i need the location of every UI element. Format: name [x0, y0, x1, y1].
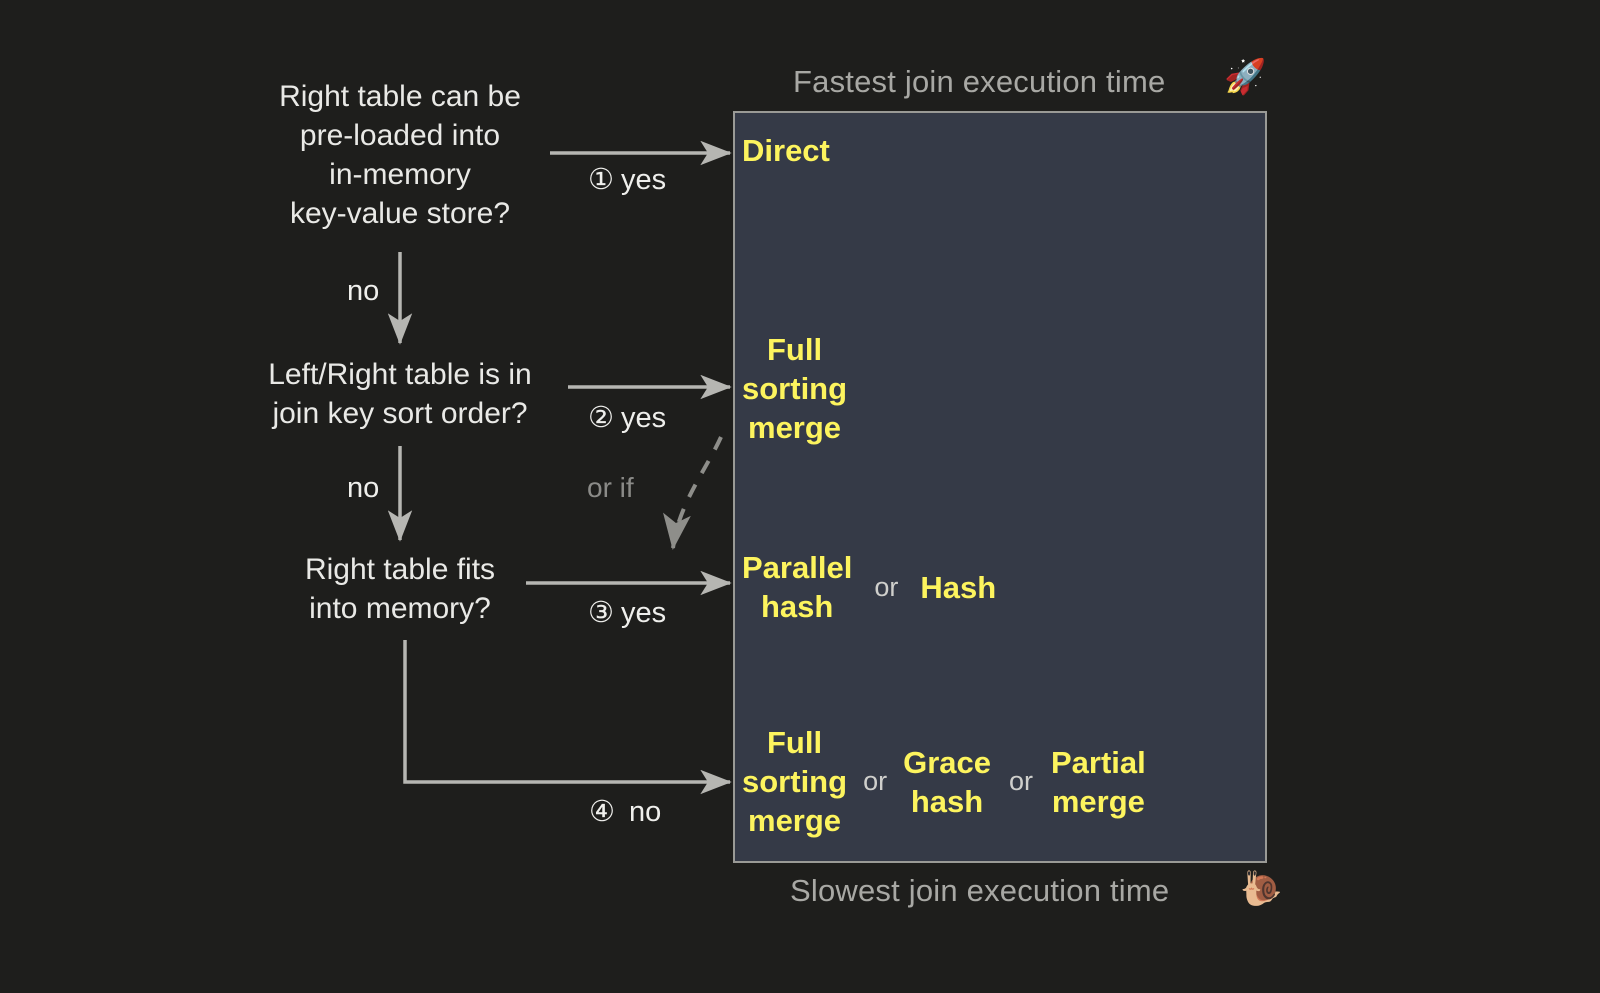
circled-number-4: ④	[589, 794, 615, 829]
algo-full-sorting-merge-2: Full sorting merge	[742, 723, 847, 840]
or-separator-1: or	[852, 572, 920, 603]
edge-label-no-2: no	[347, 472, 379, 505]
fastest-caption: Fastest join execution time	[793, 64, 1165, 100]
question-2: Left/Right table is in join key sort ord…	[230, 355, 570, 433]
branch-4-text: no	[629, 796, 661, 828]
arrow-q3-no-elbow	[405, 640, 730, 782]
branch-2-text: yes	[621, 402, 666, 434]
slowest-caption: Slowest join execution time	[790, 873, 1169, 909]
branch-1-text: yes	[621, 164, 666, 196]
algo-grace-hash: Grace hash	[903, 743, 991, 821]
algo-hash: Hash	[920, 568, 996, 607]
question-1: Right table can be pre-loaded into in-me…	[240, 77, 560, 233]
algo-partial-merge: Partial merge	[1051, 743, 1146, 821]
branch-3-text: yes	[621, 597, 666, 629]
branch-label-4: ④no	[589, 794, 661, 829]
result-row-direct: Direct	[742, 131, 830, 170]
or-separator-2: or	[847, 766, 903, 797]
branch-label-1: ①yes	[588, 162, 666, 197]
result-row-full-sorting-merge: Full sorting merge	[742, 330, 847, 447]
edge-label-no-1: no	[347, 275, 379, 308]
arrow-or-if-dashed	[673, 437, 721, 548]
snail-icon: 🐌	[1240, 872, 1282, 906]
branch-label-2: ②yes	[588, 400, 666, 435]
or-separator-3: or	[991, 766, 1051, 797]
algo-full-sorting-merge: Full sorting merge	[742, 330, 847, 447]
rocket-icon: 🚀	[1224, 60, 1266, 94]
algo-parallel-hash: Parallel hash	[742, 548, 852, 626]
result-row-slowest: Full sorting merge or Grace hash or Part…	[742, 723, 1146, 840]
result-row-parallel-hash: Parallel hash or Hash	[742, 548, 996, 626]
circled-number-1: ①	[588, 162, 614, 197]
circled-number-2: ②	[588, 400, 614, 435]
branch-label-3: ③yes	[588, 595, 666, 630]
circled-number-3: ③	[588, 595, 614, 630]
question-3: Right table fits into memory?	[270, 550, 530, 628]
join-algorithm-decision-diagram: Fastest join execution time 🚀 Slowest jo…	[0, 0, 1600, 993]
or-if-label: or if	[587, 472, 634, 504]
algo-direct: Direct	[742, 131, 830, 170]
